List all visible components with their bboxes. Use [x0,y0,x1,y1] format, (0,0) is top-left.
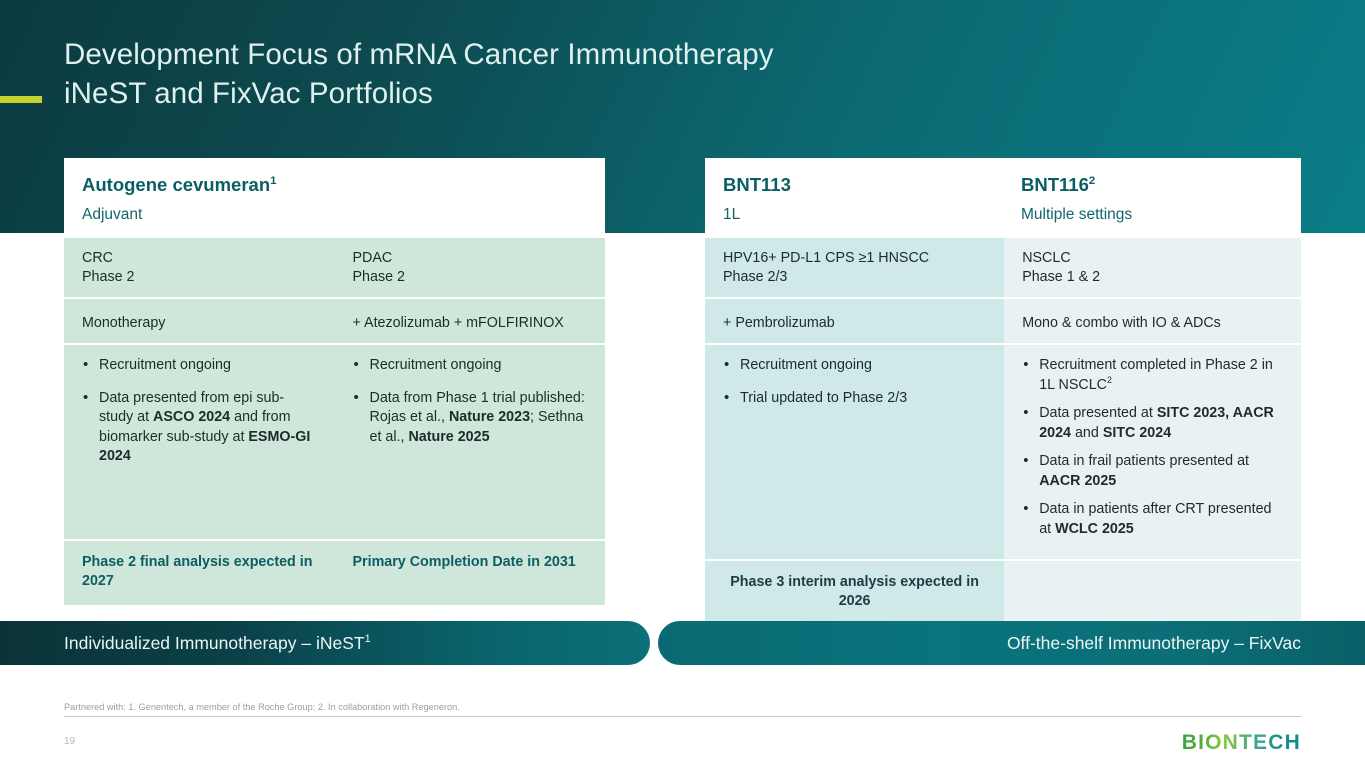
biontech-logo: BIONTECH [1182,731,1301,755]
card-inest: Autogene cevumeran1 Adjuvant CRC Phase 2… [64,158,605,615]
program-setting-bnt113: 1L [723,205,985,224]
indication-row-right: HPV16+ PD-L1 CPS ≥1 HNSCC Phase 2/3 NSCL… [705,238,1301,297]
phase-label: Phase 2 [353,268,588,287]
footer-row-right: Phase 3 interim analysis expected in 202… [705,559,1301,625]
card-inest-header: Autogene cevumeran1 Adjuvant [64,158,605,238]
list-item: Data presented from epi sub-study at ASC… [82,389,317,467]
card-fixvac: BNT113 1L BNT1162 Multiple settings HPV1… [705,158,1301,615]
banner-inest: Individualized Immunotherapy – iNeST1 [0,621,650,665]
combo-label: + Atezolizumab + mFOLFIRINOX [353,314,564,333]
program-title-autogene: Autogene cevumeran1 [82,174,587,196]
list-item: Data in frail patients presented at AACR… [1022,452,1283,491]
program-col-bnt113: BNT113 1L [705,158,1003,238]
combo-cell-bnt113: + Pembrolizumab [705,297,1004,343]
program-title-text: BNT116 [1021,174,1089,195]
indication-row-left: CRC Phase 2 PDAC Phase 2 [64,238,605,297]
combo-cell-pdac: + Atezolizumab + mFOLFIRINOX [335,297,606,343]
bullets-cell-bnt116: Recruitment completed in Phase 2 in 1L N… [1004,343,1301,559]
program-title-text: Autogene cevumeran [82,174,270,195]
footnote-divider [64,716,1301,717]
footnote-marker-1: 1 [270,175,276,187]
program-title-bnt113: BNT113 [723,174,985,196]
bullet-list: Recruitment ongoing Data presented from … [82,356,317,467]
indication-cell-nsclc: NSCLC Phase 1 & 2 [1004,238,1301,297]
phase-label: Phase 2/3 [723,268,986,287]
phase-label: Phase 2 [82,268,317,287]
bullets-cell-crc: Recruitment ongoing Data presented from … [64,343,335,539]
program-title-bnt116: BNT1162 [1021,174,1283,196]
footnote-marker-2: 2 [1089,175,1095,187]
bullet-list: Recruitment ongoing Data from Phase 1 tr… [353,356,588,447]
banner-inest-text: Individualized Immunotherapy – iNeST [64,633,365,653]
bullets-row-left: Recruitment ongoing Data presented from … [64,343,605,539]
indication-cell-pdac: PDAC Phase 2 [335,238,606,297]
list-item: Data presented at SITC 2023, AACR 2024 a… [1022,404,1283,443]
card-fixvac-header: BNT113 1L BNT1162 Multiple settings [705,158,1301,238]
footnote-marker-1: 1 [365,633,371,645]
program-col-bnt116: BNT1162 Multiple settings [1003,158,1301,238]
indication-label: PDAC [353,249,588,268]
combo-row-left: Monotherapy + Atezolizumab + mFOLFIRINOX [64,297,605,343]
milestone-crc: Phase 2 final analysis expected in 2027 [64,539,335,605]
combo-cell-crc: Monotherapy [64,297,335,343]
indication-cell-crc: CRC Phase 2 [64,238,335,297]
milestone-bnt116 [1004,559,1301,625]
combo-cell-bnt116: Mono & combo with IO & ADCs [1004,297,1301,343]
indication-cell-hnscc: HPV16+ PD-L1 CPS ≥1 HNSCC Phase 2/3 [705,238,1004,297]
list-item: Data in patients after CRT presented at … [1022,500,1283,539]
indication-label: HPV16+ PD-L1 CPS ≥1 HNSCC [723,249,986,268]
combo-label: Mono & combo with IO & ADCs [1022,314,1221,333]
accent-bar [0,96,42,103]
list-item: Recruitment ongoing [723,356,986,376]
list-item: Recruitment ongoing [82,356,317,376]
list-item: Recruitment completed in Phase 2 in 1L N… [1022,356,1283,395]
combo-label: Monotherapy [82,314,165,333]
combo-label: + Pembrolizumab [723,314,835,333]
indication-label: CRC [82,249,317,268]
milestone-bnt113: Phase 3 interim analysis expected in 202… [705,559,1004,625]
bullets-cell-pdac: Recruitment ongoing Data from Phase 1 tr… [335,343,606,539]
indication-label: NSCLC [1022,249,1283,268]
bullet-list: Recruitment completed in Phase 2 in 1L N… [1022,356,1283,539]
bullets-cell-bnt113: Recruitment ongoing Trial updated to Pha… [705,343,1004,559]
banner-inest-label: Individualized Immunotherapy – iNeST1 [64,633,371,654]
banner-fixvac-label: Off-the-shelf Immunotherapy – FixVac [1007,633,1301,654]
phase-label: Phase 1 & 2 [1022,268,1283,287]
footer-row-left: Phase 2 final analysis expected in 2027 … [64,539,605,605]
list-item: Trial updated to Phase 2/3 [723,389,986,409]
list-item: Data from Phase 1 trial published: Rojas… [353,389,588,448]
slide-canvas: Development Focus of mRNA Cancer Immunot… [0,0,1365,768]
program-setting-autogene: Adjuvant [82,205,587,224]
program-setting-bnt116: Multiple settings [1021,205,1283,224]
bullets-row-right: Recruitment ongoing Trial updated to Pha… [705,343,1301,559]
combo-row-right: + Pembrolizumab Mono & combo with IO & A… [705,297,1301,343]
program-title-text: BNT113 [723,174,791,195]
list-item: Recruitment ongoing [353,356,588,376]
bullet-list: Recruitment ongoing Trial updated to Pha… [723,356,986,408]
milestone-pdac: Primary Completion Date in 2031 [335,539,606,605]
footnote-text: Partnered with: 1. Genentech, a member o… [64,701,1301,713]
banner-fixvac: Off-the-shelf Immunotherapy – FixVac [658,621,1365,665]
page-title: Development Focus of mRNA Cancer Immunot… [64,35,1164,113]
page-number: 19 [64,736,75,747]
